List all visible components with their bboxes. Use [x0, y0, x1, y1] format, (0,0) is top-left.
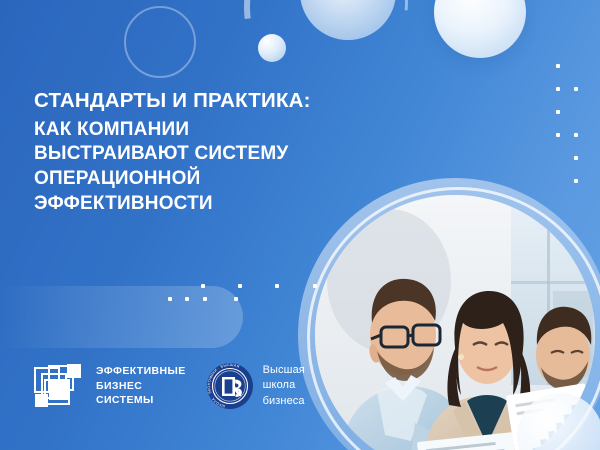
page-title: СТАНДАРТЫ И ПРАКТИКА: КАК КОМПАНИИ ВЫСТР…	[34, 88, 384, 216]
dot-decor	[275, 284, 279, 288]
dot-decor	[556, 133, 560, 137]
dot-decor	[168, 297, 172, 301]
dot-decor	[574, 87, 578, 91]
logo-hse-line-2: школа	[263, 378, 305, 394]
dot-decor	[201, 284, 205, 288]
headline-line-3: ВЫСТРАИВАЮТ СИСТЕМУ	[34, 142, 384, 167]
logo-hse-line-1: Высшая	[263, 363, 305, 379]
photo-circle	[305, 185, 600, 450]
logo-hse: ШКОЛА · ЭКОНОМИКИ · ВЫСШАЯ Высшая школа	[206, 362, 305, 410]
headline-line-4: ОПЕРАЦИОННОЙ	[34, 167, 384, 192]
logo-ebs: ЭФФЕКТИВНЫЕ БИЗНЕС СИСТЕМЫ	[33, 360, 186, 412]
dot-decor	[203, 297, 207, 301]
dot-decor	[574, 156, 578, 160]
dot-decor	[574, 179, 578, 183]
logo-ebs-line-1: ЭФФЕКТИВНЫЕ	[96, 364, 186, 379]
dot-decor	[185, 297, 189, 301]
small-sphere-decor	[258, 34, 286, 62]
soft-circle-decor-top	[434, 0, 526, 58]
overlapping-squares-mark-icon	[33, 360, 85, 412]
soft-circle-decor-upper	[300, 0, 396, 40]
logo-ebs-text: ЭФФЕКТИВНЫЕ БИЗНЕС СИСТЕМЫ	[96, 364, 186, 409]
dot-decor	[234, 297, 238, 301]
logo-row: ЭФФЕКТИВНЫЕ БИЗНЕС СИСТЕМЫ ШКОЛА · ЭКОНО…	[33, 360, 305, 412]
headline-line-2: КАК КОМПАНИИ	[34, 118, 384, 143]
headline-line-1: СТАНДАРТЫ И ПРАКТИКА:	[34, 88, 384, 115]
dot-decor	[556, 64, 560, 68]
logo-hse-text: Высшая школа бизнеса	[263, 363, 305, 410]
poster-canvas: СТАНДАРТЫ И ПРАКТИКА: КАК КОМПАНИИ ВЫСТР…	[0, 0, 600, 450]
headline-line-5: ЭФФЕКТИВНОСТИ	[34, 192, 384, 217]
hse-circular-seal-icon: ШКОЛА · ЭКОНОМИКИ · ВЫСШАЯ	[206, 362, 254, 410]
concentric-arc-inner	[261, 0, 432, 89]
dot-decor	[556, 110, 560, 114]
logo-ebs-line-2: БИЗНЕС	[96, 379, 186, 394]
outline-circle-decor	[124, 6, 196, 78]
dot-decor	[238, 284, 242, 288]
dot-decor	[574, 133, 578, 137]
logo-hse-line-3: бизнеса	[263, 394, 305, 410]
pill-shape-decor	[0, 286, 243, 348]
dot-decor	[556, 87, 560, 91]
logo-ebs-line-3: СИСТЕМЫ	[96, 393, 186, 408]
